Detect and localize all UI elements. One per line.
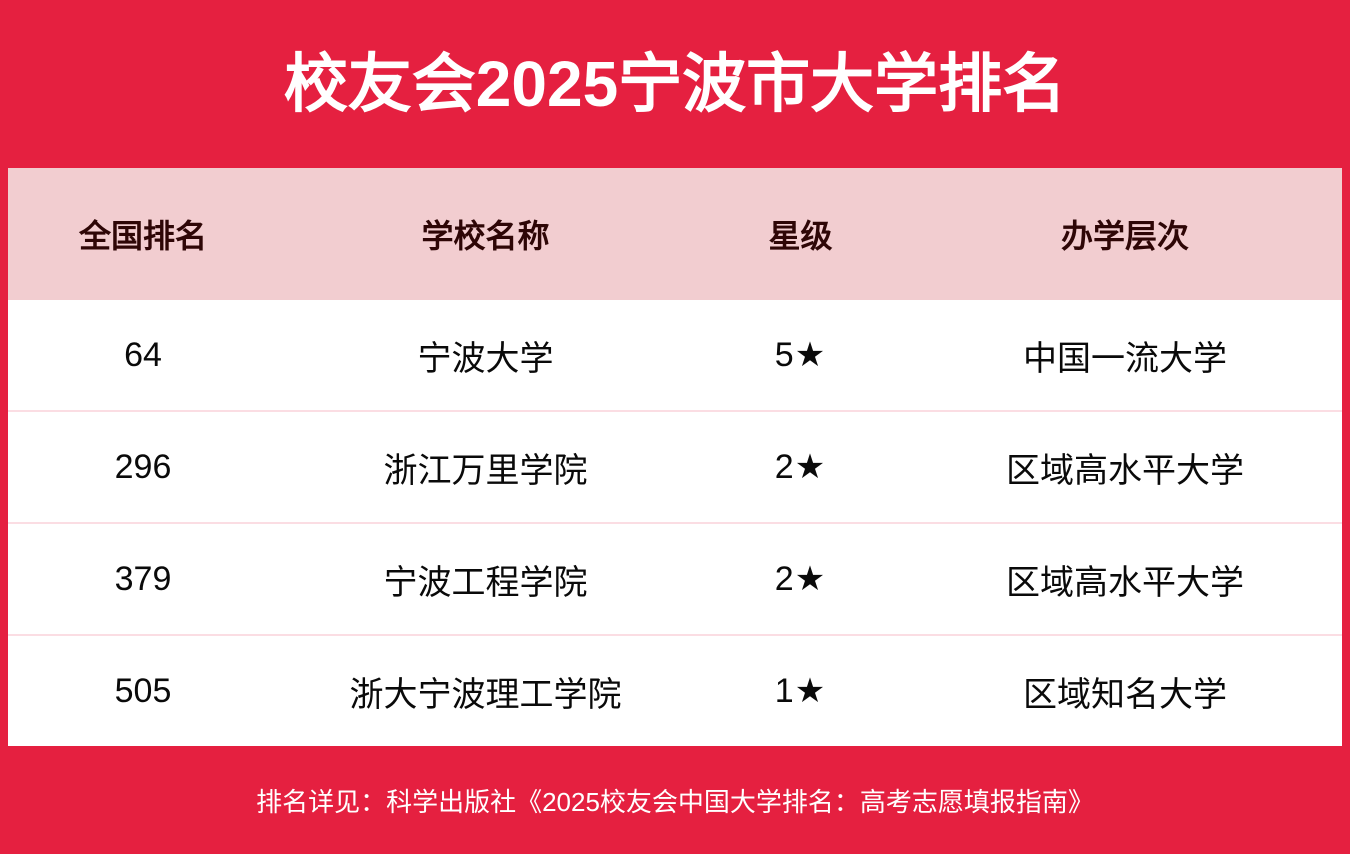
column-header-rank: 全国排名 [8, 168, 278, 300]
footer-bar: 排名详见：科学出版社《2025校友会中国大学排名：高考志愿填报指南》 [0, 746, 1350, 854]
table-row: 379 宁波工程学院 2★ 区域高水平大学 [8, 523, 1342, 635]
cell-level: 区域高水平大学 [908, 523, 1342, 635]
column-header-level: 办学层次 [908, 168, 1342, 300]
cell-rank: 64 [8, 300, 278, 411]
table-header: 全国排名 学校名称 星级 办学层次 [8, 168, 1342, 300]
ranking-poster: 校友会2025宁波市大学排名 全国排名 学校名称 星级 办学层次 64 宁波大学… [0, 0, 1350, 854]
table-row: 296 浙江万里学院 2★ 区域高水平大学 [8, 411, 1342, 523]
page-title: 校友会2025宁波市大学排名 [284, 52, 1066, 116]
source-note: 排名详见：科学出版社《2025校友会中国大学排名：高考志愿填报指南》 [256, 782, 1094, 819]
table-row: 64 宁波大学 5★ 中国一流大学 [8, 300, 1342, 411]
cell-school: 浙大宁波理工学院 [278, 635, 693, 746]
cell-school: 宁波工程学院 [278, 523, 693, 635]
title-bar: 校友会2025宁波市大学排名 [0, 0, 1350, 168]
cell-rank: 379 [8, 523, 278, 635]
column-header-school: 学校名称 [278, 168, 693, 300]
cell-level: 区域高水平大学 [908, 411, 1342, 523]
cell-level: 区域知名大学 [908, 635, 1342, 746]
cell-star: 2★ [693, 523, 908, 635]
table-row: 505 浙大宁波理工学院 1★ 区域知名大学 [8, 635, 1342, 746]
cell-level: 中国一流大学 [908, 300, 1342, 411]
column-header-star: 星级 [693, 168, 908, 300]
cell-star: 5★ [693, 300, 908, 411]
cell-school: 宁波大学 [278, 300, 693, 411]
cell-rank: 505 [8, 635, 278, 746]
cell-star: 1★ [693, 635, 908, 746]
cell-school: 浙江万里学院 [278, 411, 693, 523]
table-body: 64 宁波大学 5★ 中国一流大学 296 浙江万里学院 2★ 区域高水平大学 … [8, 300, 1342, 746]
cell-rank: 296 [8, 411, 278, 523]
table-header-row: 全国排名 学校名称 星级 办学层次 [8, 168, 1342, 300]
university-ranking-table: 全国排名 学校名称 星级 办学层次 64 宁波大学 5★ 中国一流大学 296 … [8, 168, 1342, 746]
cell-star: 2★ [693, 411, 908, 523]
